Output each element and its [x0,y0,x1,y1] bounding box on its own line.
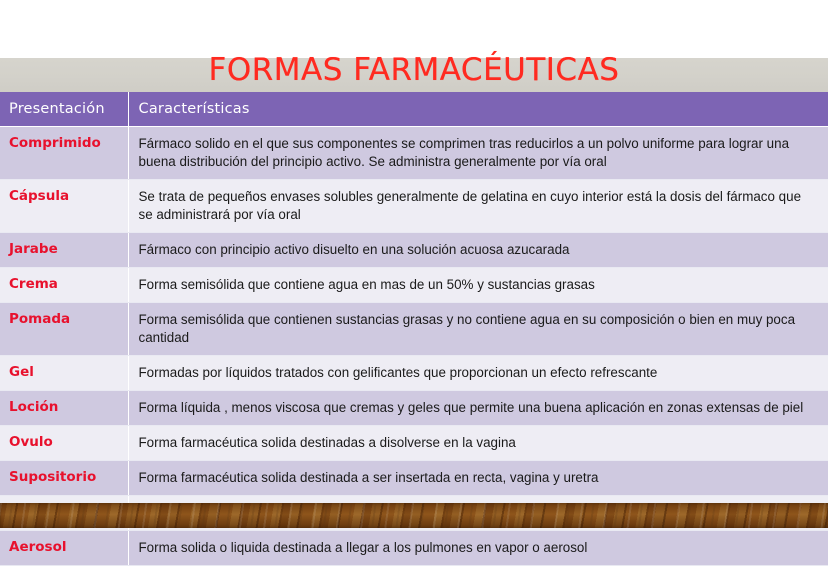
table-row: AerosolForma solida o liquida destinada … [0,531,828,566]
pharmaceutical-forms-table-wrapper: Presentación Características ComprimidoF… [0,92,828,566]
table-row: ComprimidoFármaco solido en el que sus c… [0,127,828,180]
table-row: CápsulaSe trata de pequeños envases solu… [0,180,828,233]
table-body: ComprimidoFármaco solido en el que sus c… [0,127,828,566]
cell-presentacion: Pomada [0,303,128,356]
wood-grain-overlay [0,503,828,528]
column-header-caracteristicas: Características [128,92,828,127]
cell-presentacion: Supositorio [0,461,128,496]
cell-caracteristicas: Forma líquida , menos viscosa que cremas… [128,391,828,426]
cell-caracteristicas: Formadas por líquidos tratados con gelif… [128,356,828,391]
column-header-presentacion: Presentación [0,92,128,127]
cell-presentacion: Ovulo [0,426,128,461]
cell-presentacion: Loción [0,391,128,426]
cell-presentacion: Crema [0,268,128,303]
cell-caracteristicas: Fármaco con principio activo disuelto en… [128,233,828,268]
table-row: PomadaForma semisólida que contienen sus… [0,303,828,356]
cell-presentacion: Aerosol [0,531,128,566]
table-row: LociónForma líquida , menos viscosa que … [0,391,828,426]
slide-canvas: FORMAS FARMACÉUTICAS Presentación Caract… [0,0,828,586]
cell-caracteristicas: Forma semisólida que contienen sustancia… [128,303,828,356]
table-row: OvuloForma farmacéutica solida destinada… [0,426,828,461]
table-row: GelFormadas por líquidos tratados con ge… [0,356,828,391]
table-row: CremaForma semisólida que contiene agua … [0,268,828,303]
wood-plank-strip [0,503,828,528]
pharmaceutical-forms-table: Presentación Características ComprimidoF… [0,92,828,566]
cell-caracteristicas: Forma semisólida que contiene agua en ma… [128,268,828,303]
table-row: JarabeFármaco con principio activo disue… [0,233,828,268]
cell-presentacion: Comprimido [0,127,128,180]
cell-caracteristicas: Forma farmacéutica solida destinada a se… [128,461,828,496]
cell-presentacion: Gel [0,356,128,391]
page-title: FORMAS FARMACÉUTICAS [0,52,828,88]
cell-presentacion: Cápsula [0,180,128,233]
cell-caracteristicas: Forma farmacéutica solida destinadas a d… [128,426,828,461]
cell-caracteristicas: Forma solida o liquida destinada a llega… [128,531,828,566]
table-row: SupositorioForma farmacéutica solida des… [0,461,828,496]
table-header: Presentación Características [0,92,828,127]
cell-caracteristicas: Fármaco solido en el que sus componentes… [128,127,828,180]
cell-presentacion: Jarabe [0,233,128,268]
table-header-row: Presentación Características [0,92,828,127]
cell-caracteristicas: Se trata de pequeños envases solubles ge… [128,180,828,233]
